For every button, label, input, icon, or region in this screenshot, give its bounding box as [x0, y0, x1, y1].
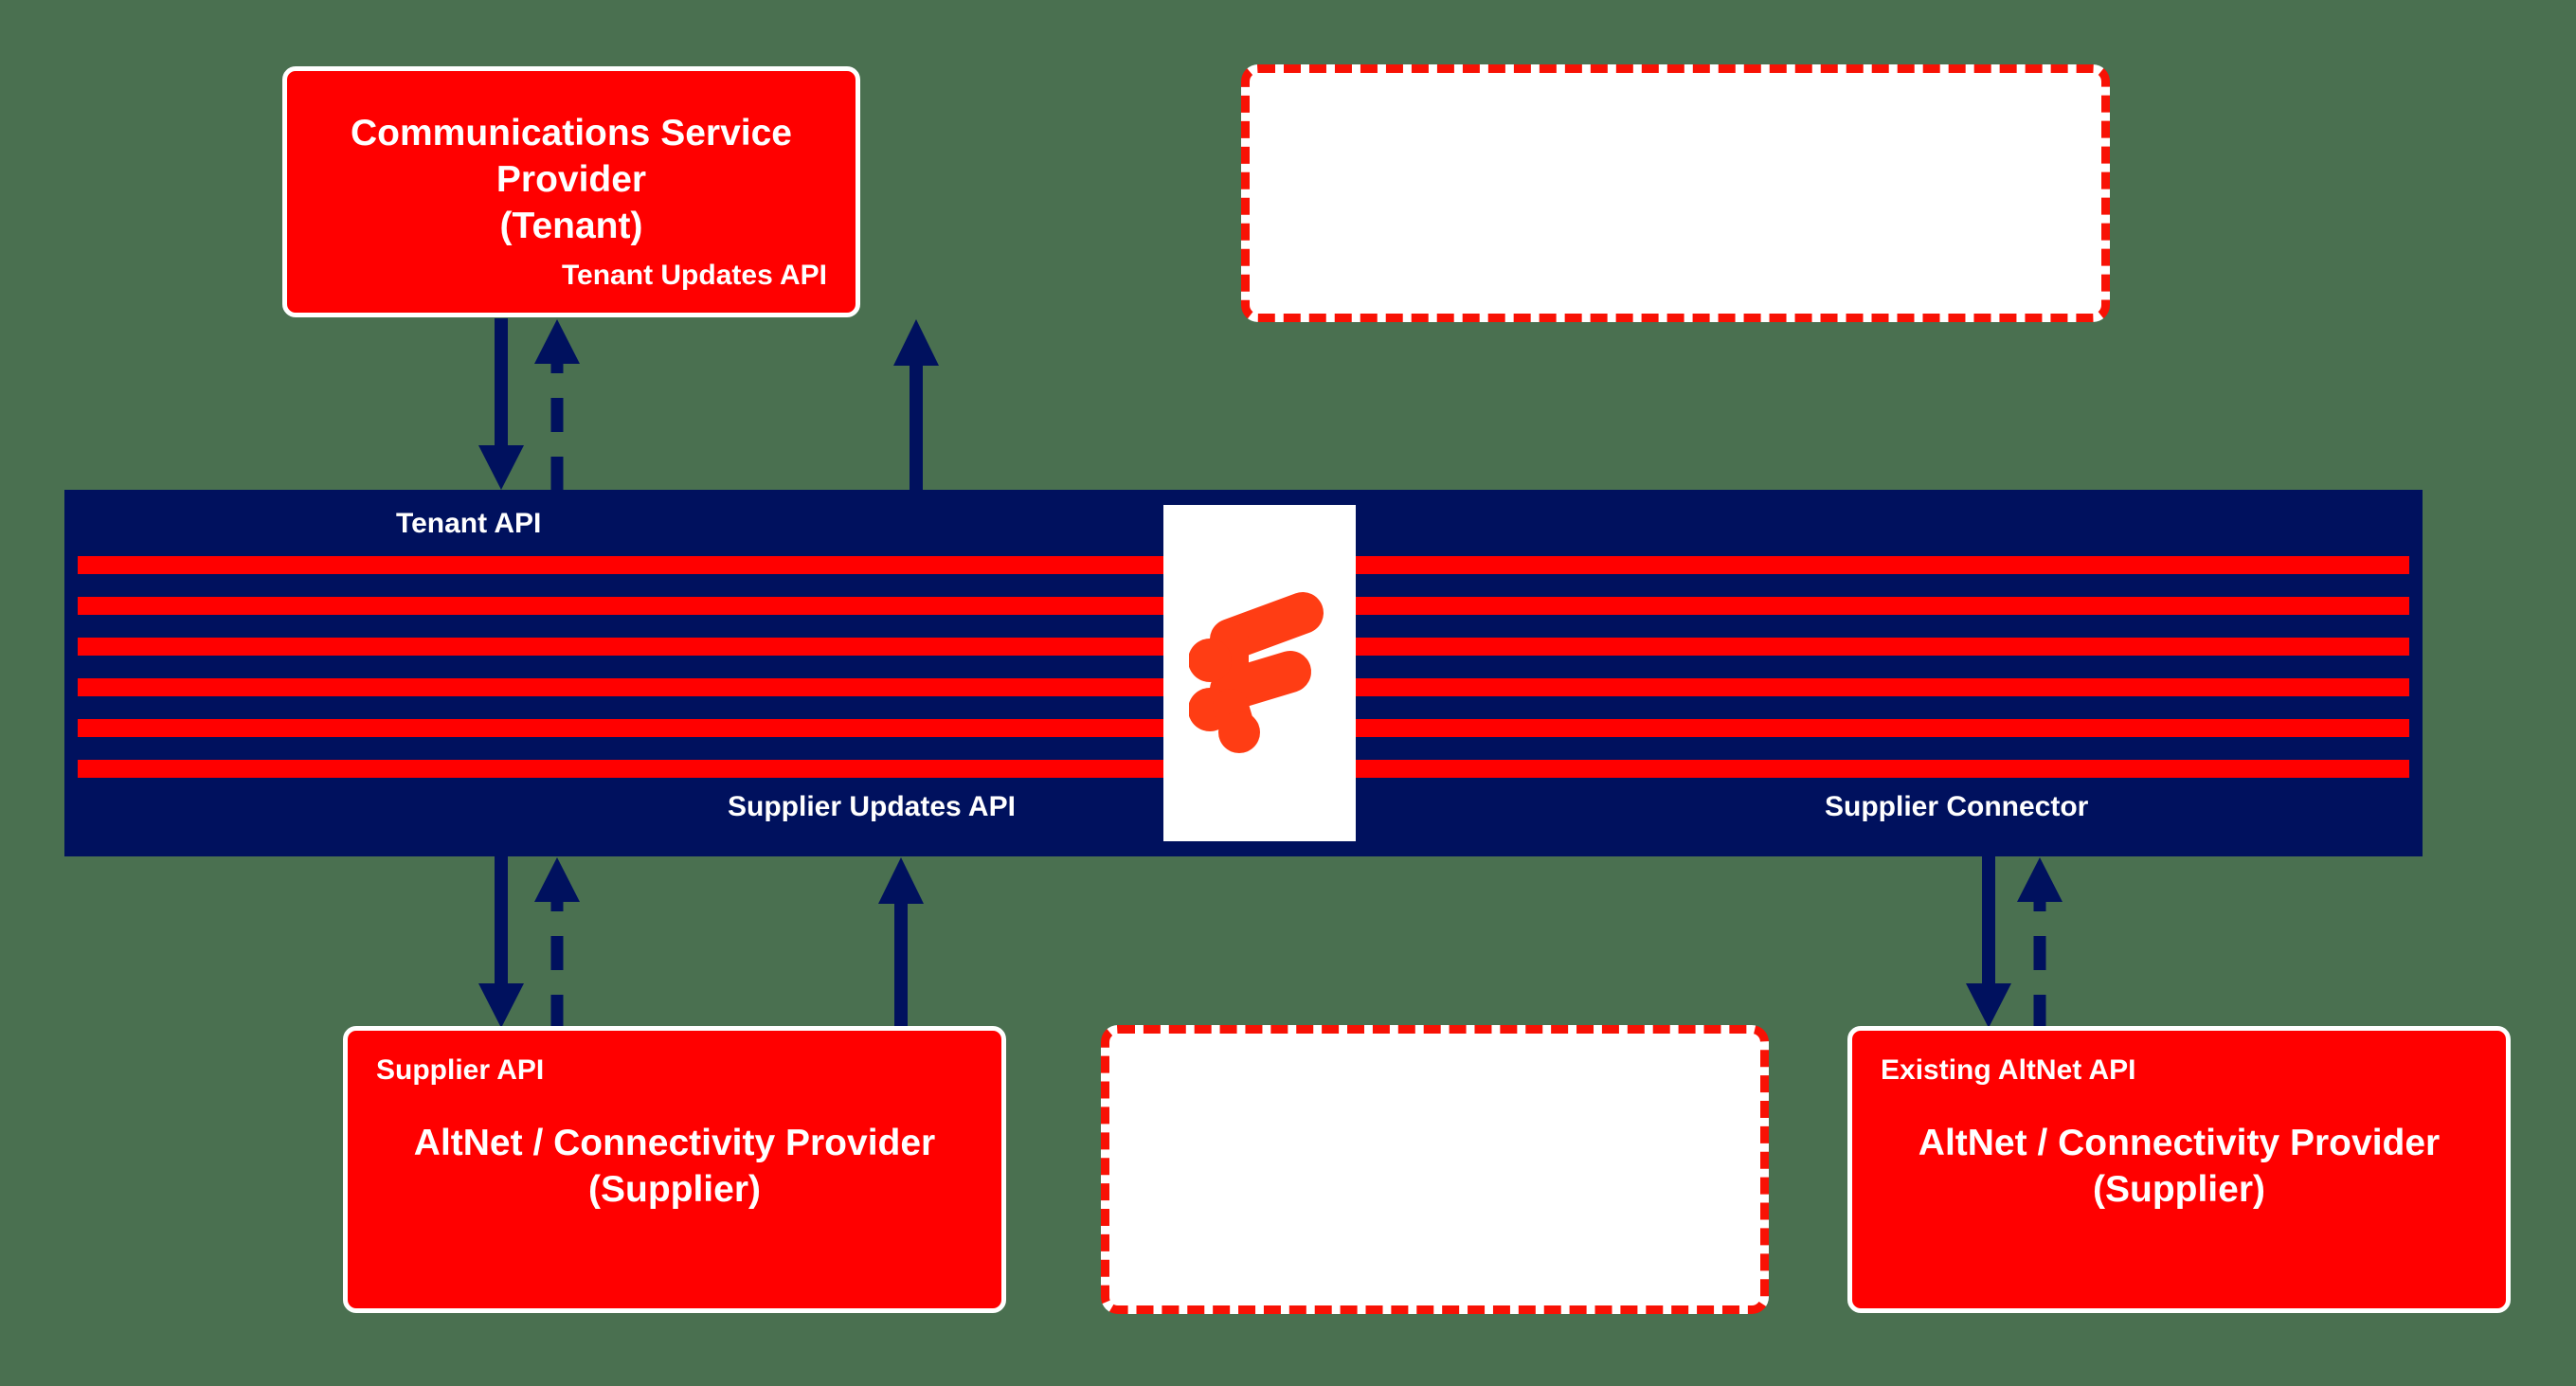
existing-altnet-api-label: Existing AltNet API	[1881, 1054, 2135, 1087]
tenant-api-label: Tenant API	[396, 508, 541, 540]
tenant-card-title: Communications Service Provider (Tenant)	[287, 111, 856, 249]
existing-altnet-api-downstream-arrow	[1959, 856, 2018, 1029]
fluidone-f-logo-icon	[1189, 588, 1331, 759]
tenant-api-downstream-arrow	[472, 318, 531, 491]
supplier-right-card-title: AltNet / Connectivity Provider (Supplier…	[1852, 1121, 2506, 1214]
tenant-placeholder-card[interactable]	[1241, 64, 2110, 322]
supplier-connector-label: Supplier Connector	[1825, 791, 2088, 823]
supplier-placeholder-card[interactable]	[1101, 1025, 1769, 1314]
tenant-api-upstream-arrow	[528, 318, 586, 491]
logo-tile	[1163, 505, 1356, 841]
supplier-api-downstream-arrow	[472, 856, 531, 1029]
supplier-api-upstream-arrow	[528, 856, 586, 1029]
supplier-left-card-title: AltNet / Connectivity Provider (Supplier…	[348, 1121, 1001, 1214]
supplier-updates-api-upstream-arrow	[872, 856, 930, 1029]
supplier-left-card[interactable]: Supplier API AltNet / Connectivity Provi…	[343, 1026, 1006, 1313]
tenant-card[interactable]: Communications Service Provider (Tenant)…	[282, 66, 860, 317]
architecture-diagram: Communications Service Provider (Tenant)…	[0, 0, 2576, 1386]
supplier-right-card[interactable]: Existing AltNet API AltNet / Connectivit…	[1847, 1026, 2511, 1313]
tenant-updates-api-upstream-arrow	[887, 318, 946, 491]
supplier-api-label: Supplier API	[376, 1054, 544, 1087]
supplier-updates-api-label: Supplier Updates API	[728, 791, 1016, 823]
tenant-updates-api-label: Tenant Updates API	[562, 260, 827, 292]
existing-altnet-api-upstream-arrow	[2010, 856, 2069, 1029]
